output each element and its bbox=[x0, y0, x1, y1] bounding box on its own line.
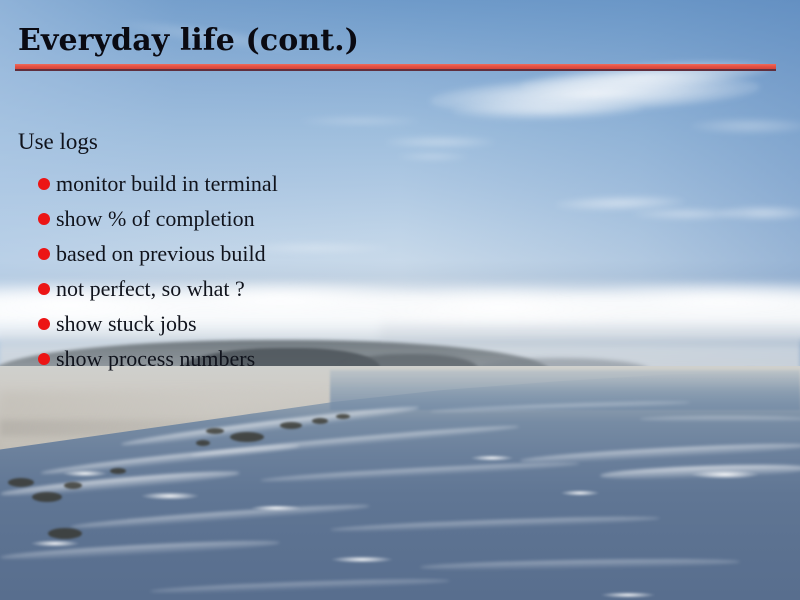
cloud-wisp bbox=[718, 206, 800, 220]
list-item-label: show % of completion bbox=[56, 206, 255, 232]
lead-line: Use logs bbox=[18, 128, 98, 156]
seaweed-clump bbox=[206, 428, 224, 434]
seaweed-clump bbox=[280, 422, 302, 429]
cloud-wisp bbox=[690, 118, 800, 134]
list-item-label: based on previous build bbox=[56, 241, 266, 267]
seaweed-clump bbox=[64, 482, 82, 489]
bullet-dot-icon bbox=[38, 213, 50, 225]
water-sparkle bbox=[250, 505, 302, 511]
list-item: not perfect, so what ? bbox=[0, 271, 278, 306]
seaweed-clump bbox=[336, 414, 350, 419]
slide-title: Everyday life (cont.) bbox=[18, 24, 359, 58]
water-sparkle bbox=[62, 470, 108, 477]
list-item-label: not perfect, so what ? bbox=[56, 276, 245, 302]
water-sparkle bbox=[560, 490, 600, 496]
bullet-dot-icon bbox=[38, 318, 50, 330]
water-sparkle bbox=[600, 592, 656, 598]
seaweed-clump bbox=[8, 478, 34, 487]
title-rule-shadow bbox=[15, 69, 776, 71]
seaweed-clump bbox=[196, 440, 210, 446]
water-sparkle bbox=[140, 492, 200, 500]
list-item: show process numbers bbox=[0, 341, 278, 376]
seaweed-clump bbox=[312, 418, 328, 424]
cloud-wisp bbox=[385, 136, 495, 148]
wave-foam bbox=[640, 416, 800, 422]
list-item: monitor build in terminal bbox=[0, 166, 278, 201]
bullet-dot-icon bbox=[38, 353, 50, 365]
title-underline-rule bbox=[15, 64, 776, 71]
list-item-label: monitor build in terminal bbox=[56, 171, 278, 197]
seaweed-clump bbox=[48, 528, 82, 539]
bullet-dot-icon bbox=[38, 178, 50, 190]
bullet-list: monitor build in terminalshow % of compl… bbox=[0, 166, 278, 376]
presentation-slide: Everyday life (cont.) Use logs monitor b… bbox=[0, 0, 800, 600]
seaweed-clump bbox=[110, 468, 126, 474]
water-sparkle bbox=[330, 556, 394, 563]
bullet-dot-icon bbox=[38, 248, 50, 260]
list-item-label: show stuck jobs bbox=[56, 311, 197, 337]
bullet-dot-icon bbox=[38, 283, 50, 295]
water-sparkle bbox=[30, 540, 80, 547]
water-sparkle bbox=[690, 470, 760, 479]
list-item: show stuck jobs bbox=[0, 306, 278, 341]
seaweed-clump bbox=[32, 492, 62, 502]
water-sparkle bbox=[470, 455, 514, 461]
list-item-label: show process numbers bbox=[56, 346, 255, 372]
cloud-wisp bbox=[398, 152, 468, 161]
list-item: based on previous build bbox=[0, 236, 278, 271]
cloud-wisp bbox=[300, 116, 420, 126]
list-item: show % of completion bbox=[0, 201, 278, 236]
seaweed-clump bbox=[230, 432, 264, 442]
